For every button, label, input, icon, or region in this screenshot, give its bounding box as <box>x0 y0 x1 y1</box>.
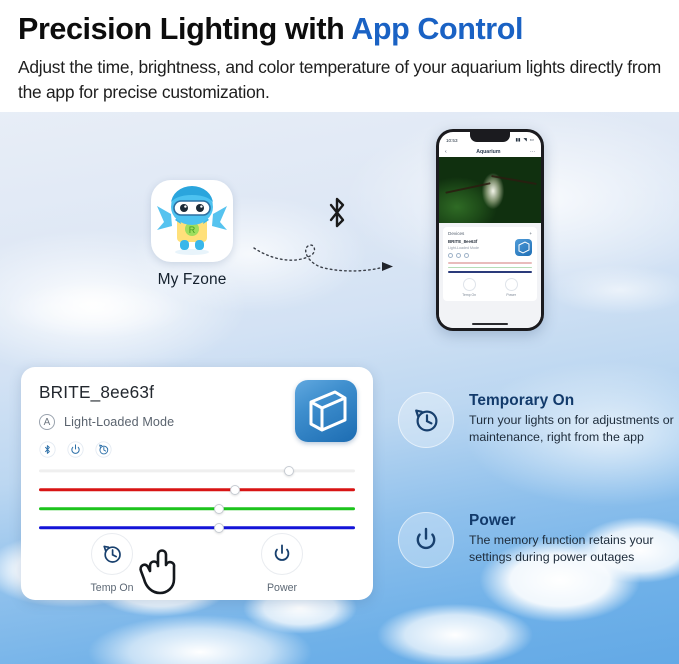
slider-track-brightness <box>39 469 355 472</box>
phone-sliders[interactable] <box>448 262 532 273</box>
phone-back-icon[interactable]: ‹ <box>445 149 447 155</box>
slider-track-green <box>39 507 355 510</box>
phone-nav-bar: ‹ Aquarium ··· <box>439 146 541 157</box>
wifi-icon: ◥ <box>523 137 527 143</box>
device-control-card: BRITE_8ee63f A Light-Loaded Mode <box>21 367 373 600</box>
phone-home-indicator <box>472 323 508 326</box>
phone-device-name: BRITE_8ee63f <box>448 239 479 244</box>
phone-screen: 10:53 ▮▮ ◥ ▭ ‹ Aquarium ··· Devices <box>439 132 541 328</box>
cube-glyph <box>295 380 357 442</box>
phone-device-mode: Light-Loaded Mode <box>448 246 479 250</box>
phone-temp-on-label: Temp On <box>462 293 476 297</box>
phone-buttons[interactable]: Temp On Power <box>448 278 532 297</box>
power-icon[interactable] <box>67 441 84 458</box>
phone-card-header: Devices + <box>448 231 532 236</box>
hand-pointer-cursor <box>138 546 184 596</box>
power-label: Power <box>245 582 319 594</box>
page-title-accent: App Control <box>351 12 523 46</box>
svg-text:R: R <box>189 225 196 235</box>
phone-more-icon[interactable]: ··· <box>530 149 535 155</box>
slider-thumb-brightness[interactable] <box>284 466 294 476</box>
timer-rewind-icon <box>411 405 441 435</box>
bluetooth-icon[interactable] <box>39 441 56 458</box>
feature-title: Power <box>469 512 679 530</box>
feature-temporary-on: Temporary On Turn your lights on for adj… <box>398 392 679 448</box>
phone-status-time: 10:53 <box>446 138 458 143</box>
app-icon-label: My Fzone <box>147 271 237 289</box>
app-icon-tile[interactable]: R <box>151 180 233 262</box>
page-title-main: Precision Lighting with <box>18 12 351 46</box>
phone-temp-on-button[interactable]: Temp On <box>462 278 476 297</box>
slider-thumb-red[interactable] <box>230 485 240 495</box>
branch-decor <box>491 175 537 185</box>
feature-text: Power The memory function retains your s… <box>469 512 679 565</box>
bluetooth-icon <box>324 196 350 230</box>
phone-card-title: Devices <box>448 231 464 236</box>
phone-slider-red[interactable] <box>448 262 532 264</box>
timer-rewind-icon <box>463 278 476 291</box>
timer-rewind-icon <box>100 542 124 566</box>
header-section: Precision Lighting with App Control Adju… <box>0 0 679 112</box>
power-icon <box>270 542 294 566</box>
phone-nav-title: Aquarium <box>476 149 500 155</box>
feature-desc: Turn your lights on for adjustments or m… <box>469 412 679 445</box>
page-subtitle: Adjust the time, brightness, and color t… <box>18 55 665 104</box>
signal-icon: ▮▮ <box>515 137 520 143</box>
dotted-curved-arrow-icon <box>252 230 397 278</box>
device-mini-icons[interactable] <box>39 441 355 458</box>
blue-cube-app-icon <box>515 239 532 256</box>
device-mode-label: Light-Loaded Mode <box>64 415 174 429</box>
slider-green[interactable] <box>39 501 355 516</box>
phone-power-button[interactable]: Power <box>505 278 518 297</box>
slider-red[interactable] <box>39 482 355 497</box>
phone-device-card[interactable]: Devices + BRITE_8ee63f Light-Loaded Mode <box>443 227 537 301</box>
promo-page: Precision Lighting with App Control Adju… <box>0 0 679 664</box>
branch-decor <box>445 182 490 194</box>
slider-thumb-blue[interactable] <box>214 523 224 533</box>
feature-icon-circle <box>398 512 454 568</box>
app-icon-block[interactable]: R My Fzone <box>147 180 237 289</box>
phone-mini-icons[interactable] <box>448 253 479 258</box>
feature-icon-circle <box>398 392 454 448</box>
power-icon <box>505 278 518 291</box>
power-button[interactable]: Power <box>245 533 319 594</box>
phone-notch <box>470 132 510 142</box>
bluetooth-icon[interactable] <box>448 253 453 258</box>
feature-desc: The memory function retains your setting… <box>469 532 679 565</box>
slider-track-red <box>39 488 355 491</box>
phone-status-icons: ▮▮ ◥ ▭ <box>514 137 534 143</box>
feature-power: Power The memory function retains your s… <box>398 512 679 568</box>
mode-badge: A <box>39 414 55 430</box>
blue-cube-app-icon <box>295 380 357 442</box>
power-icon[interactable] <box>456 253 461 258</box>
rgb-sliders[interactable] <box>39 463 355 539</box>
phone-power-label: Power <box>505 293 518 297</box>
feature-title: Temporary On <box>469 392 679 410</box>
phone-card-add-icon[interactable]: + <box>529 231 532 236</box>
my-fzone-mascot-icon: R <box>151 180 233 262</box>
battery-icon: ▭ <box>530 137 534 143</box>
action-buttons[interactable]: Temp On Power <box>21 533 373 594</box>
phone-slider-green[interactable] <box>448 267 532 269</box>
cube-glyph <box>515 239 532 256</box>
timer-icon[interactable] <box>464 253 469 258</box>
timer-icon[interactable] <box>95 441 112 458</box>
temp-on-circle[interactable] <box>91 533 133 575</box>
power-icon <box>411 525 441 555</box>
slider-thumb-green[interactable] <box>214 504 224 514</box>
phone-content: Devices + BRITE_8ee63f Light-Loaded Mode <box>439 223 541 328</box>
feature-text: Temporary On Turn your lights on for adj… <box>469 392 679 445</box>
slider-brightness[interactable] <box>39 463 355 478</box>
phone-mockup: 10:53 ▮▮ ◥ ▭ ‹ Aquarium ··· Devices <box>436 129 544 331</box>
aquarium-photo <box>439 157 541 223</box>
phone-slider-blue[interactable] <box>448 271 532 273</box>
slider-track-blue <box>39 526 355 529</box>
page-title: Precision Lighting with App Control <box>18 12 665 48</box>
power-circle[interactable] <box>261 533 303 575</box>
